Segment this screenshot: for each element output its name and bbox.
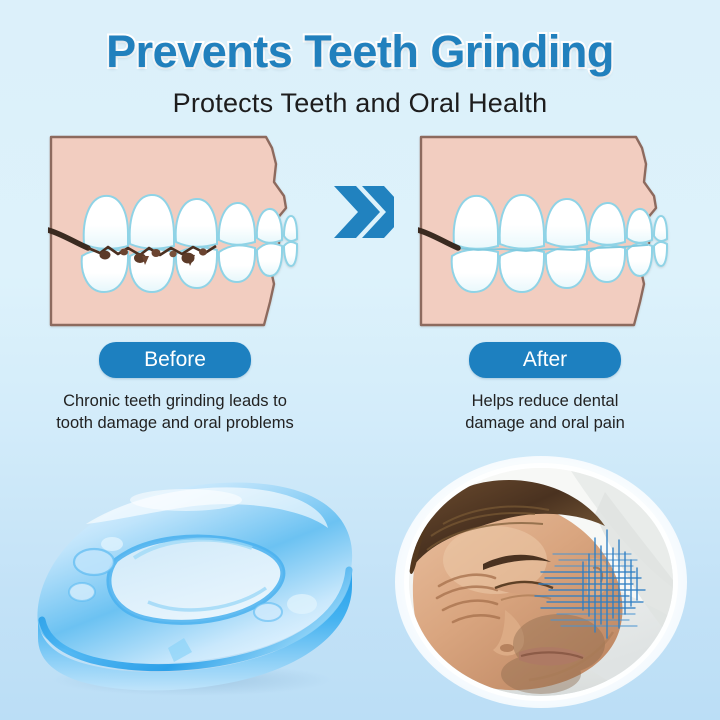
comparison-panel-after: After Helps reduce dental damage and ora… <box>390 134 700 435</box>
caption-after-line1: Helps reduce dental <box>472 392 619 410</box>
caption-before-line2: tooth damage and oral problems <box>56 414 294 432</box>
caption-before: Chronic teeth grinding leads to tooth da… <box>25 391 325 435</box>
caption-after-line2: damage and oral pain <box>465 414 625 432</box>
double-chevron-right-icon <box>332 182 394 242</box>
comparison-panel-before: Before Chronic teeth grinding leads to t… <box>20 134 330 435</box>
photo-circle-mask <box>409 468 673 696</box>
sleeping-man-photo <box>395 456 687 708</box>
caption-after: Helps reduce dental damage and oral pain <box>395 391 695 435</box>
before-after-comparison: Before Chronic teeth grinding leads to t… <box>0 134 720 434</box>
caption-before-line1: Chronic teeth grinding leads to <box>63 392 287 410</box>
header: Prevents Teeth Grinding Protects Teeth a… <box>0 0 720 119</box>
page-title: Prevents Teeth Grinding <box>0 0 720 78</box>
badge-after: After <box>469 342 621 378</box>
teeth-illustration-before <box>48 134 302 328</box>
infographic-page: Prevents Teeth Grinding Protects Teeth a… <box>0 0 720 720</box>
anti-snoring-mouthguard-image <box>16 452 366 702</box>
badge-before: Before <box>99 342 251 378</box>
page-subtitle: Protects Teeth and Oral Health <box>0 78 720 119</box>
teeth-illustration-after <box>418 134 672 328</box>
